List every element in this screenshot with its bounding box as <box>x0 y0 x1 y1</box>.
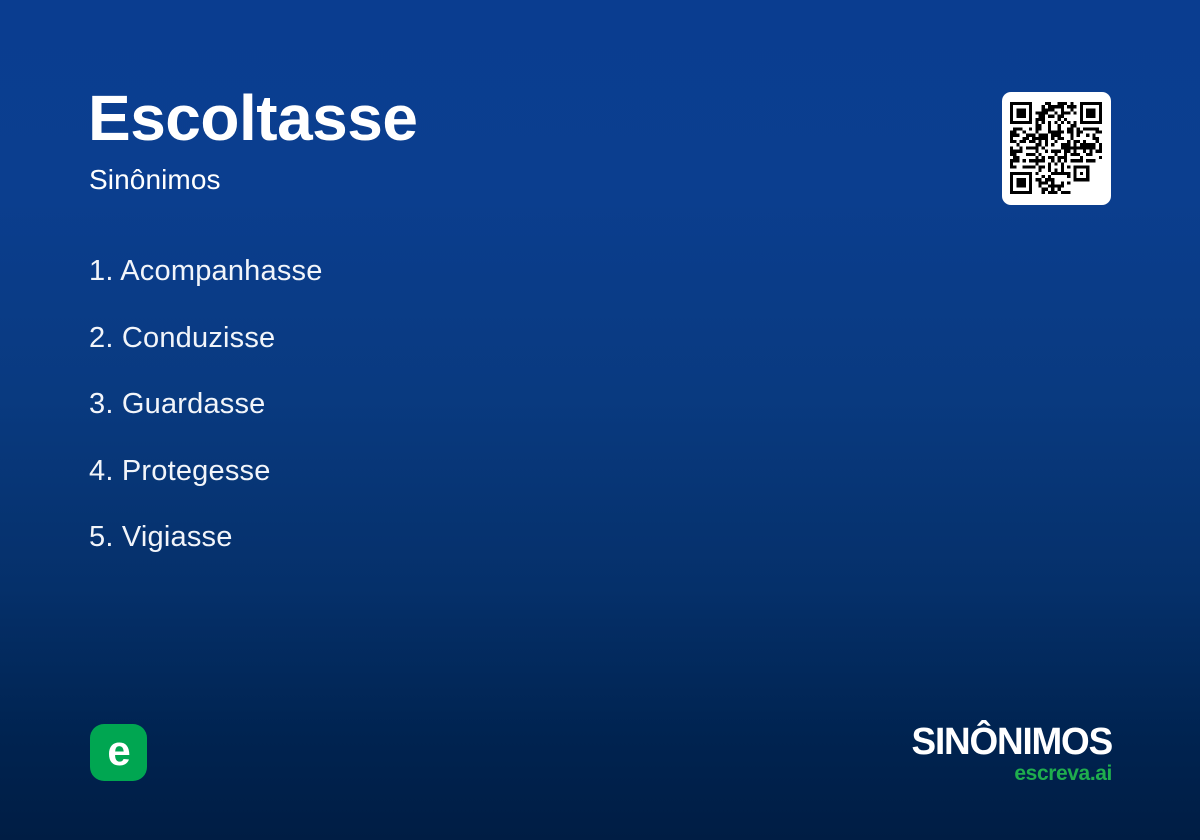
brand-logo[interactable]: SINÔNIMOS escreva.ai <box>880 722 1112 784</box>
list-item: 3. Guardasse <box>89 371 709 438</box>
list-item-word: Conduzisse <box>122 322 276 354</box>
brand-logo-domain: escreva.ai <box>880 763 1112 785</box>
list-item-index: 5. <box>89 521 114 553</box>
list-item: 1. Acompanhasse <box>89 238 709 305</box>
list-item-index: 1. <box>89 255 114 287</box>
list-item: 4. Protegesse <box>89 438 709 505</box>
qr-code-card[interactable] <box>1002 92 1111 205</box>
escreva-e-badge-icon[interactable]: e <box>90 724 147 781</box>
qr-code-icon <box>1010 100 1102 196</box>
page-subtitle: Sinônimos <box>89 166 221 194</box>
list-item-index: 4. <box>89 455 114 487</box>
list-item-word: Acompanhasse <box>120 255 322 287</box>
list-item-index: 3. <box>89 388 114 420</box>
list-item-index: 2. <box>89 322 114 354</box>
list-item: 2. Conduzisse <box>89 305 709 372</box>
list-item-word: Guardasse <box>122 388 266 420</box>
badge-letter: e <box>107 730 129 772</box>
brand-logo-title: SINÔNIMOS <box>887 722 1112 762</box>
synonym-card: Escoltasse Sinônimos 1. Acompanhasse 2. … <box>0 0 1200 840</box>
list-item-word: Vigiasse <box>122 521 233 553</box>
list-item: 5. Vigiasse <box>89 504 709 571</box>
synonym-list: 1. Acompanhasse 2. Conduzisse 3. Guardas… <box>89 238 709 571</box>
page-title: Escoltasse <box>88 86 417 150</box>
list-item-word: Protegesse <box>122 455 271 487</box>
